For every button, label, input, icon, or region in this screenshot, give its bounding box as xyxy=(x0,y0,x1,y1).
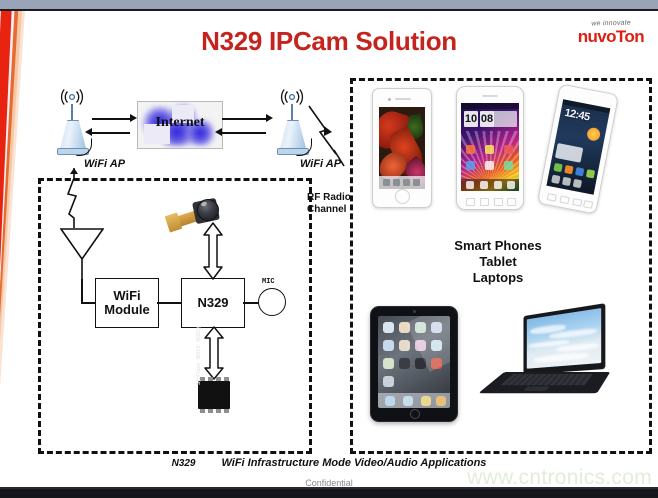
footer-caption-text: WiFi Infrastructure Mode Video/Audio App… xyxy=(221,457,486,469)
laptop-image xyxy=(492,310,616,410)
nuvoton-logo: we innovate nuvoTon xyxy=(578,20,644,45)
tablet-ipad-image xyxy=(370,306,458,422)
phone2-clock-hours: 10 xyxy=(464,111,478,127)
flash-label-line2: W25X xyxy=(196,345,202,359)
spi-flash-chip: SpiFlash W25X W25Q xyxy=(194,378,234,412)
page-title: N329 IPCam Solution xyxy=(0,26,658,57)
flash-label-line1: SpiFlash xyxy=(196,363,202,385)
wifi-module-block: WiFi Module xyxy=(95,278,159,328)
caption-line-smart-phones: Smart Phones xyxy=(350,238,646,254)
rf-lightning-icon xyxy=(306,104,348,179)
wifi-ap-left-icon xyxy=(52,88,92,166)
link-ap-right-to-internet xyxy=(222,132,266,134)
device-antenna-icon xyxy=(60,228,104,280)
link-wifi-module-to-soc xyxy=(157,302,181,304)
n329-label: N329 xyxy=(197,296,228,310)
top-rule xyxy=(0,9,658,11)
client-devices-caption: Smart Phones Tablet Laptops xyxy=(350,238,646,286)
rf-channel-label: RF Radio Channel xyxy=(307,192,351,216)
link-internet-to-ap-right xyxy=(222,118,266,120)
flash-label-line3: W25Q xyxy=(196,327,202,342)
arrowhead-left xyxy=(85,128,92,136)
caption-line-laptops: Laptops xyxy=(350,270,646,286)
smartphone-htc-image: 10 08 xyxy=(456,86,524,210)
antenna-drop-wire xyxy=(81,279,83,303)
bottom-band xyxy=(0,489,658,498)
logo-wordmark: nuvoTon xyxy=(578,28,644,45)
left-accent-stripe xyxy=(0,11,26,489)
link-soc-to-mic xyxy=(243,302,259,304)
wifi-module-label-line1: WiFi xyxy=(113,288,140,303)
rf-lightning-down-icon xyxy=(60,166,88,237)
link-ap-left-to-internet xyxy=(92,118,130,120)
caption-line-tablet: Tablet xyxy=(350,254,646,270)
microphone-icon xyxy=(258,288,286,316)
mic-label: MIC xyxy=(262,278,275,286)
arrowhead-left xyxy=(215,128,222,136)
smartphone-iphone-image xyxy=(372,88,432,208)
n329-soc-block: N329 xyxy=(181,278,245,328)
slide-canvas: N329 IPCam Solution we innovate nuvoTon … xyxy=(0,0,658,498)
camera-to-soc-bidirectional-arrow xyxy=(202,222,224,285)
footer-caption-number: N329 xyxy=(172,458,196,469)
top-band xyxy=(0,0,658,9)
phone3-clock: 12:45 xyxy=(564,107,591,124)
internet-cloud-box: Internet xyxy=(137,101,223,149)
arrowhead-right xyxy=(266,114,273,122)
wifi-module-label-line2: Module xyxy=(104,302,150,317)
arrowhead-right xyxy=(130,114,137,122)
phone2-clock-minutes: 08 xyxy=(480,111,494,127)
link-internet-to-ap-left xyxy=(92,132,130,134)
wifi-ap-left-label: WiFi AP xyxy=(84,158,125,170)
internet-label: Internet xyxy=(138,115,222,131)
